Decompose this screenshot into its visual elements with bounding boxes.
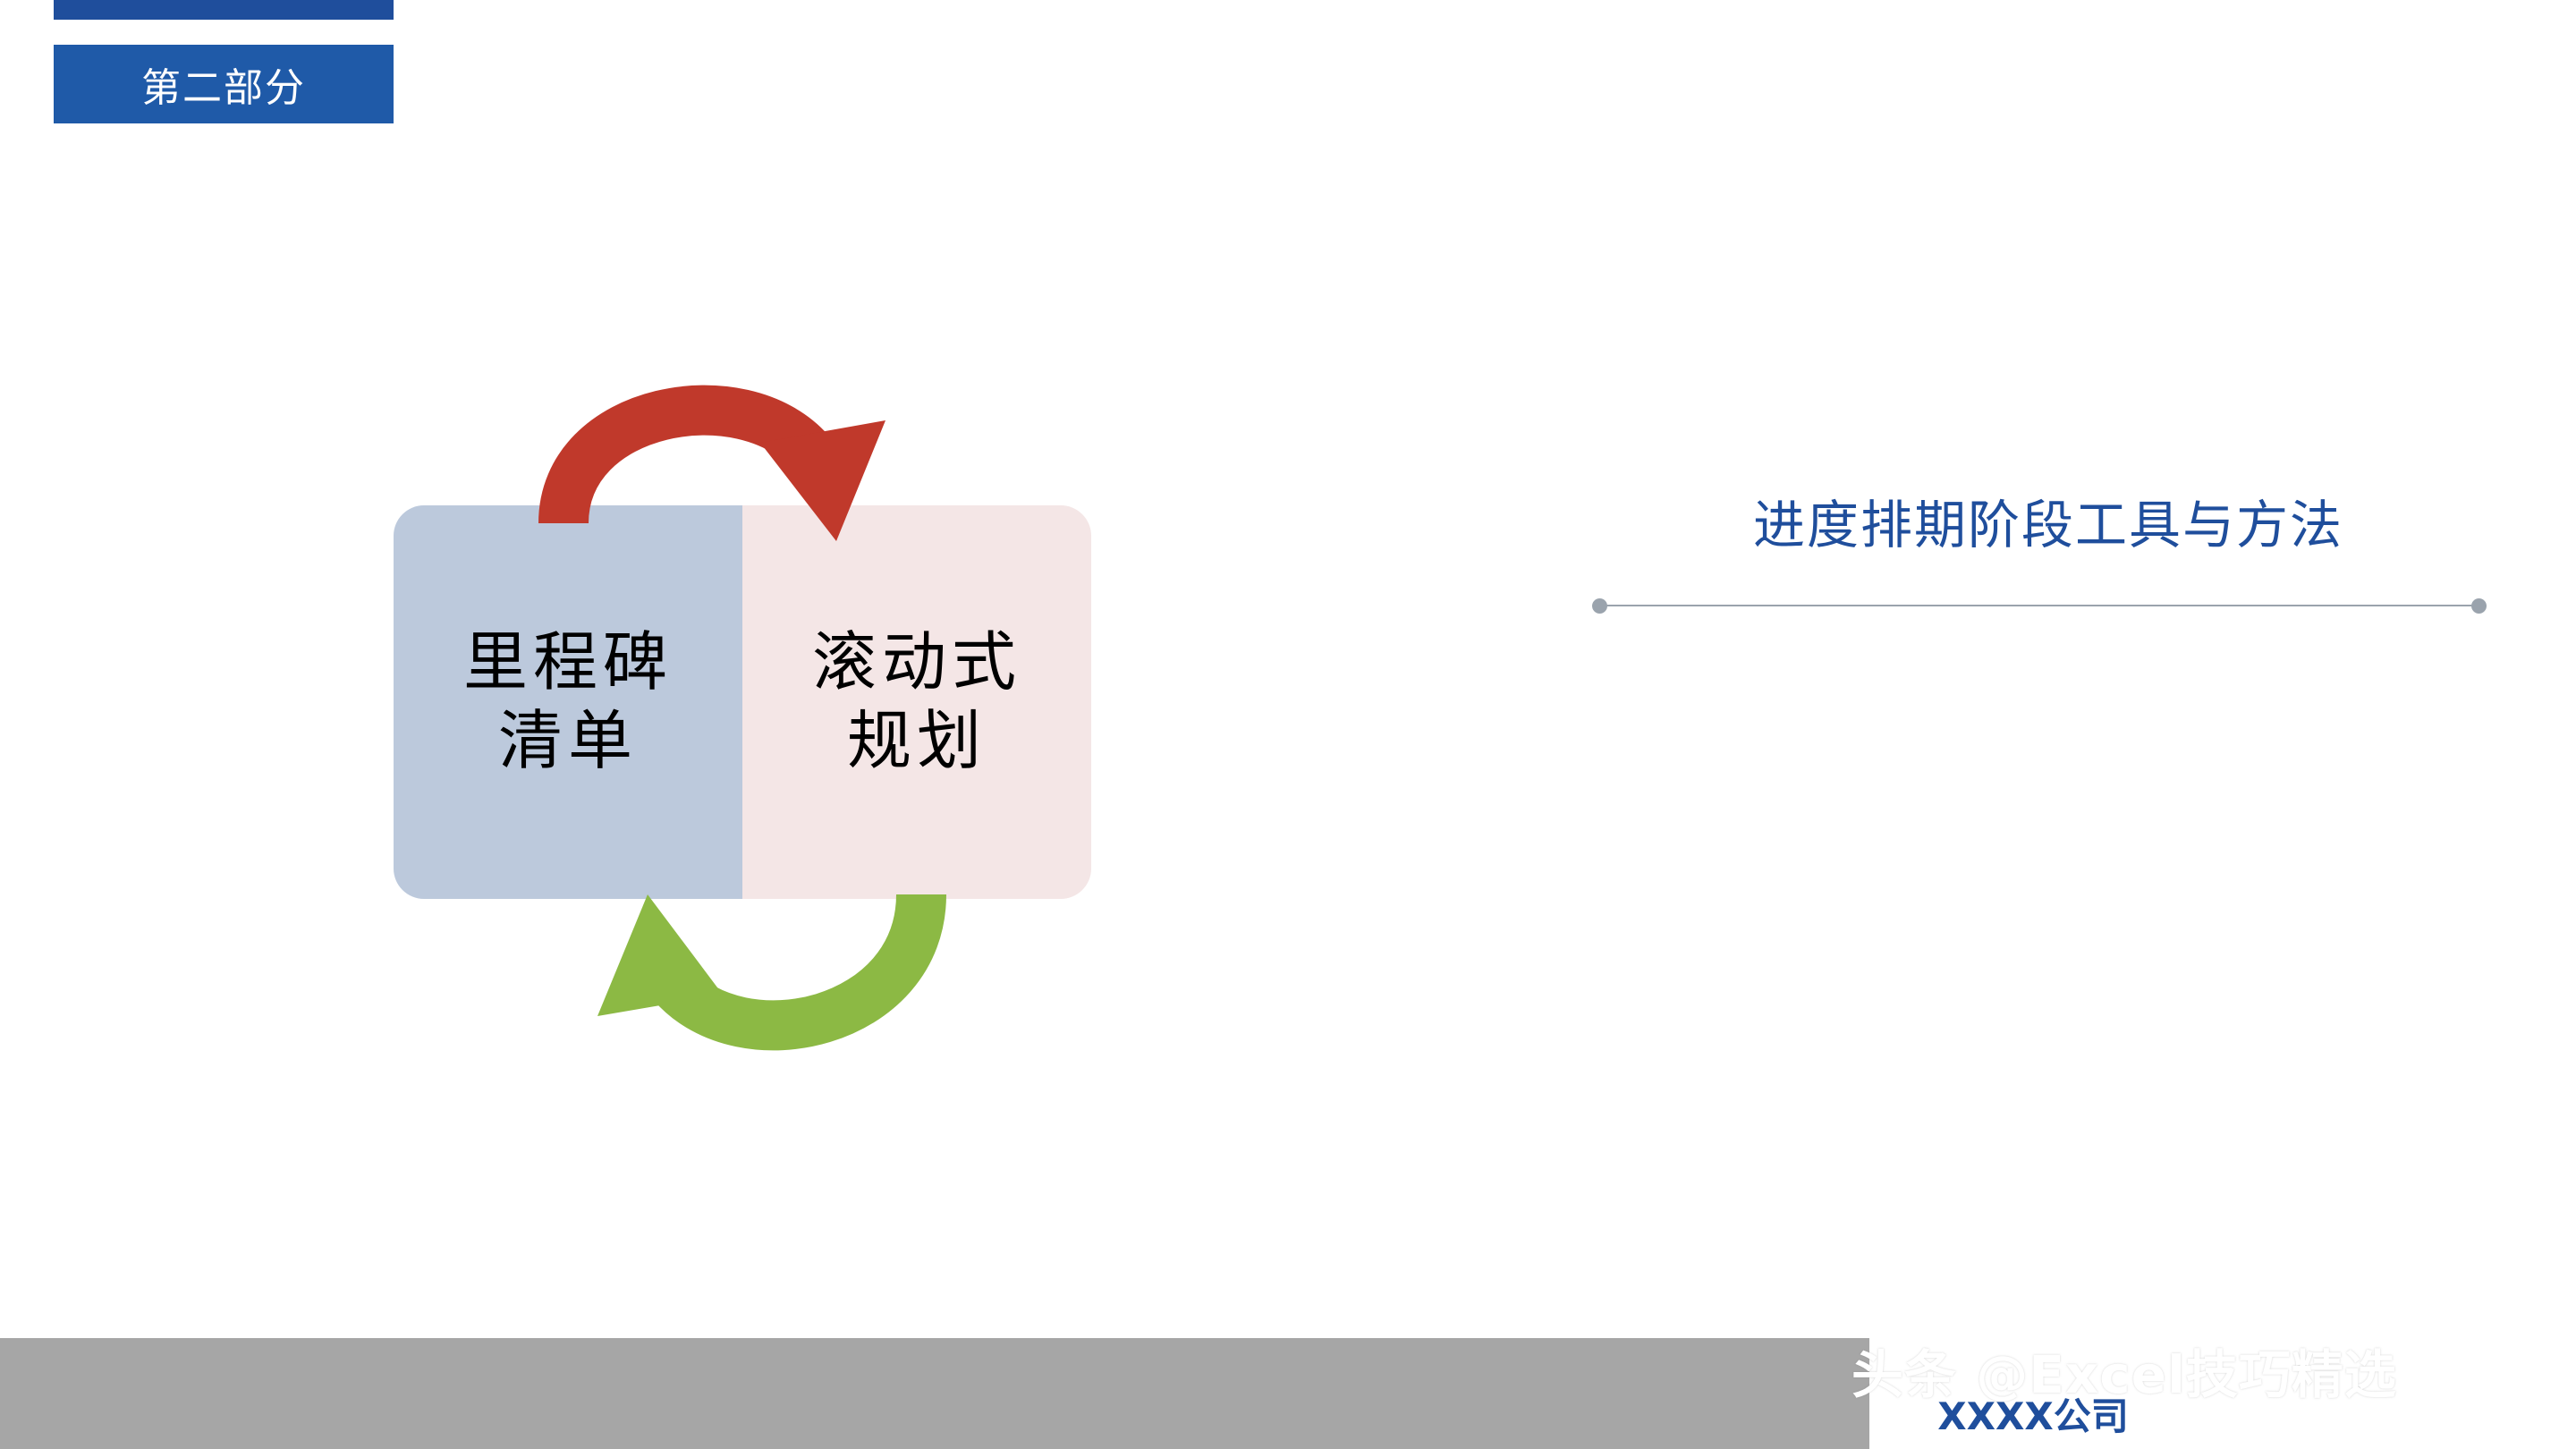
divider-rule xyxy=(1592,596,2487,615)
section-tag-box: 第二部分 xyxy=(54,45,394,123)
diagram-card-left: 里程碑清单 xyxy=(394,505,742,899)
bottom-arrow-icon xyxy=(597,894,921,1025)
page-title: 进度排期阶段工具与方法 xyxy=(1574,483,2522,558)
footer-bar xyxy=(0,1338,1869,1449)
right-heading-block: 进度排期阶段工具与方法 xyxy=(1574,483,2522,615)
cycle-diagram: 里程碑清单 滚动式规划 xyxy=(385,358,1100,1252)
diagram-card-right-label: 滚动式规划 xyxy=(796,623,1038,781)
diagram-card-left-label: 里程碑清单 xyxy=(447,623,689,781)
diagram-card-right: 滚动式规划 xyxy=(742,505,1091,899)
section-tag-top-bar xyxy=(54,0,394,20)
divider-dot-right-icon xyxy=(2471,598,2487,614)
divider-dot-left-icon xyxy=(1592,598,1607,614)
watermark-text: 头条 @Excel技巧精选 xyxy=(1851,1333,2397,1408)
divider-line xyxy=(1605,605,2474,606)
section-tag-label: 第二部分 xyxy=(141,55,306,113)
